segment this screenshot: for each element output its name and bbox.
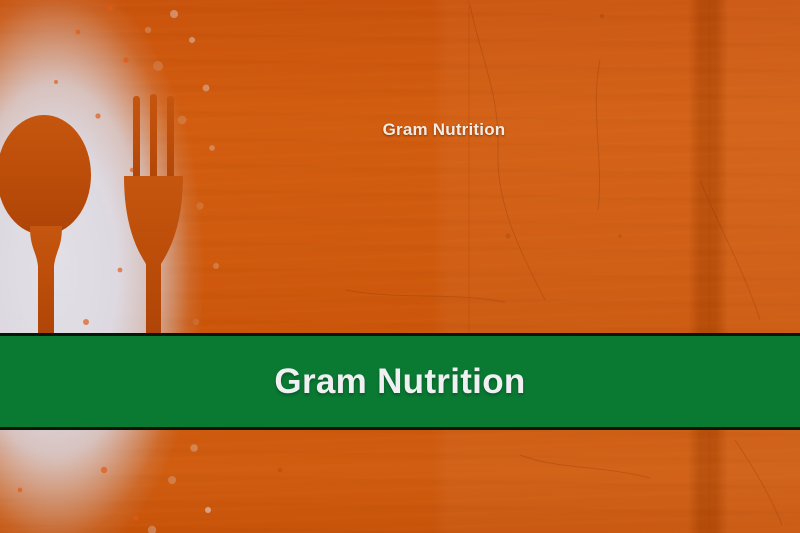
cutlery-silhouettes (0, 0, 260, 340)
photo-caption: Gram Nutrition (0, 120, 800, 140)
spoon-silhouette (0, 115, 91, 340)
title-banner: Gram Nutrition (0, 333, 800, 430)
banner-title-text: Gram Nutrition (274, 362, 525, 402)
image-canvas: Gram Nutrition Gram Nutrition (0, 0, 800, 533)
background-photo: Gram Nutrition (0, 0, 800, 533)
